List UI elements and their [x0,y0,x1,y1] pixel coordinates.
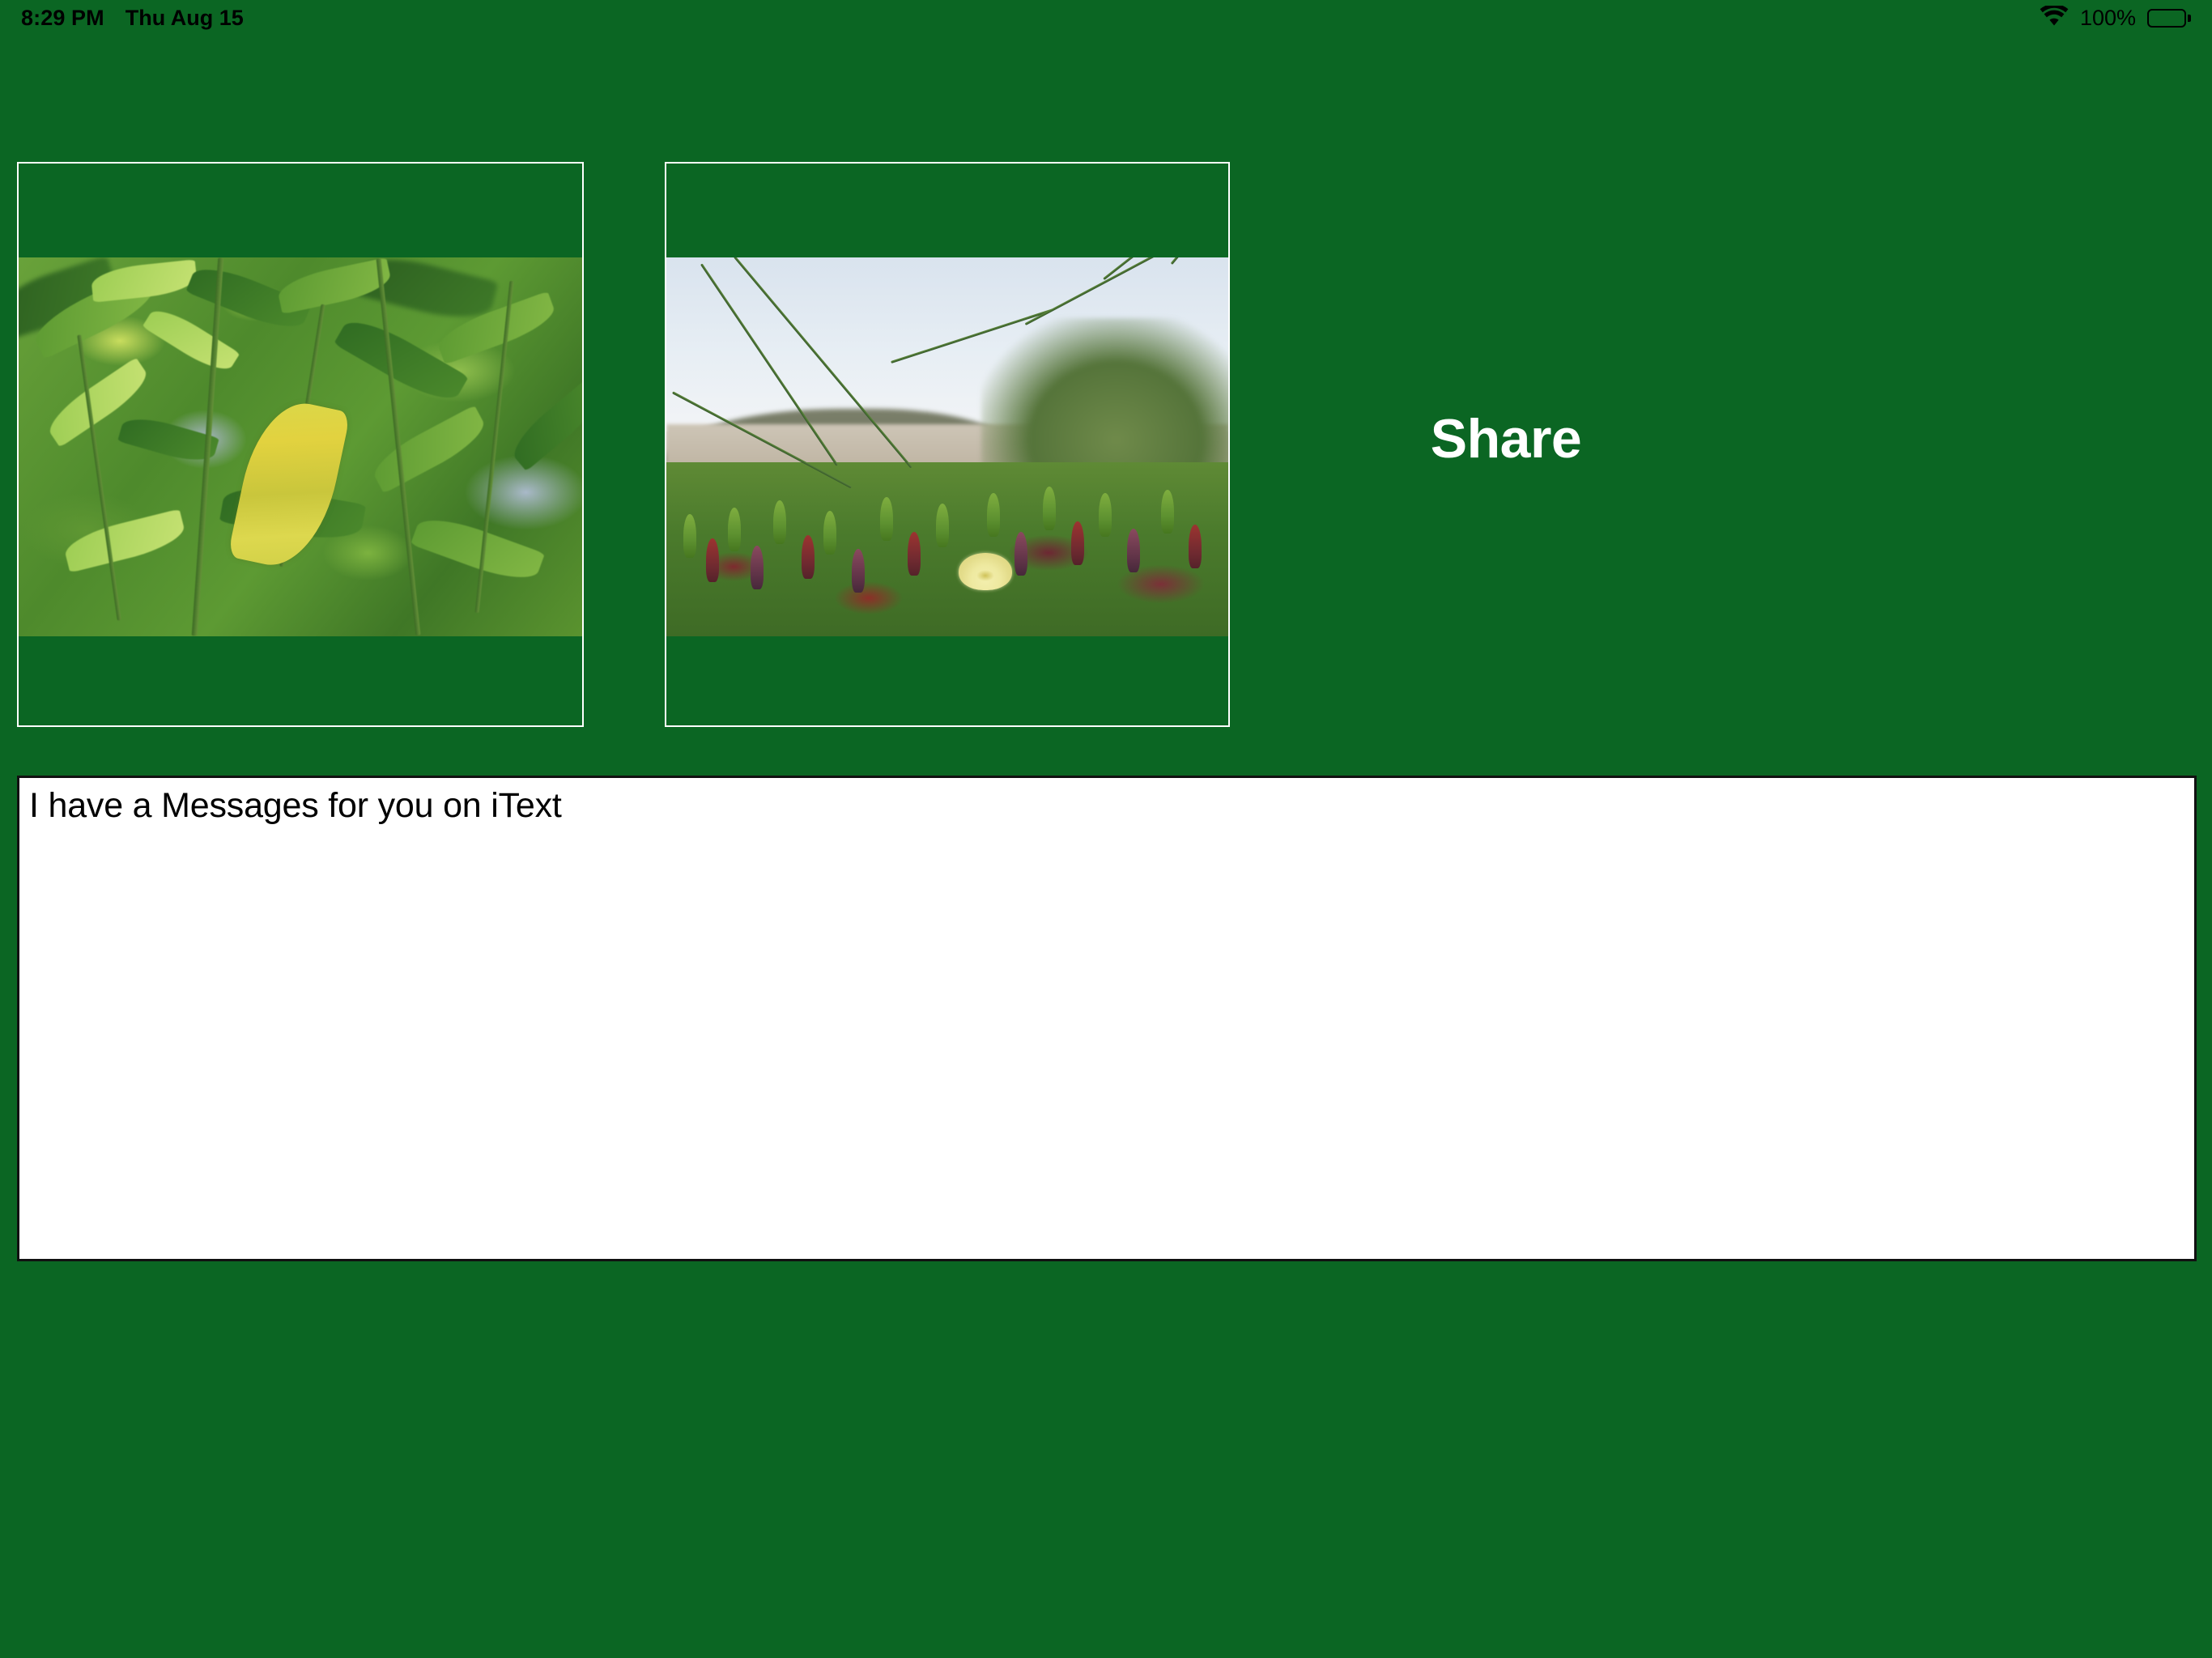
message-input[interactable]: I have a Messages for you on iText [17,776,2197,1261]
dune-iceplant-photo [666,257,1228,636]
attachment-thumbnail-0[interactable] [17,162,584,727]
attachment-thumbnail-1[interactable] [665,162,1230,727]
message-input-value: I have a Messages for you on iText [29,786,2184,825]
status-bar-left: 8:29 PM Thu Aug 15 [21,7,244,29]
battery-percentage: 100% [2080,7,2136,29]
share-sheet-screen: 8:29 PM Thu Aug 15 100% [0,0,2212,1658]
status-time: 8:29 PM [21,7,104,29]
wifi-icon [2040,6,2069,31]
share-title: Share [1376,411,1636,466]
status-date: Thu Aug 15 [125,7,244,29]
status-bar-right: 100% [2040,6,2191,31]
status-bar: 8:29 PM Thu Aug 15 100% [0,0,2212,36]
battery-icon [2147,9,2191,28]
citrus-foliage-photo [19,257,582,636]
attachment-thumbnails [0,162,2212,729]
